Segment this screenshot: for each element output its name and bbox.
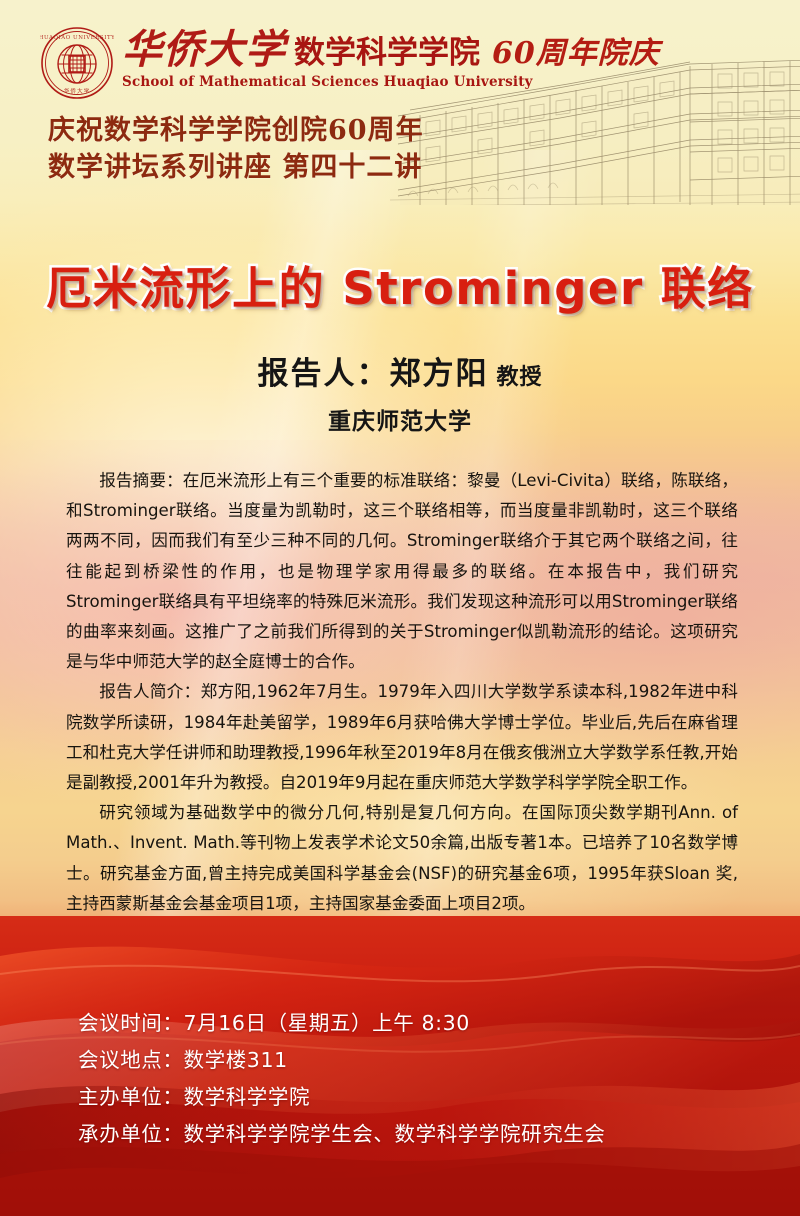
subheading-line-2: 数学讲坛系列讲座 第四十二讲 <box>48 149 424 186</box>
event-details: 会议时间：7月16日（星期五）上午 8:30 会议地点：数学楼311 主办单位：… <box>78 1005 606 1153</box>
subheading-line-1: 庆祝数学科学学院创院60周年 <box>48 112 424 149</box>
speaker-academic-title: 教授 <box>496 365 542 390</box>
svg-text:HUAQIAO UNIVERSITY: HUAQIAO UNIVERSITY <box>40 35 114 41</box>
school-english-name: School of Mathematical Sciences Huaqiao … <box>122 74 660 90</box>
department-name-cn: 数学科学学院 <box>294 38 480 69</box>
event-organizer: 主办单位：数学科学学院 <box>78 1079 606 1116</box>
huaqiao-university-seal-icon: HUAQIAO UNIVERSITY 华侨大学 <box>40 26 114 100</box>
research-paragraph: 研究领域为基础数学中的微分几何,特别是复几何方向。在国际顶尖数学期刊Ann. o… <box>66 798 738 919</box>
event-time: 会议时间：7月16日（星期五）上午 8:30 <box>78 1005 606 1042</box>
speaker-label: 报告人： <box>257 356 389 392</box>
speaker-block: 报告人：郑方阳教授 重庆师范大学 <box>0 355 800 436</box>
university-branding: HUAQIAO UNIVERSITY 华侨大学 华侨大学 数学科学学院 60周年… <box>40 26 660 100</box>
event-co-organizer: 承办单位：数学科学学院学生会、数学科学学院研究生会 <box>78 1116 606 1153</box>
body-content: 报告摘要：在厄米流形上有三个重要的标准联络：黎曼（Levi-Civita）联络，… <box>66 466 738 919</box>
speaker-name-row: 报告人：郑方阳教授 <box>0 355 800 394</box>
speaker-affiliation: 重庆师范大学 <box>0 402 800 436</box>
lecture-title-text: 厄米流形上的 Strominger 联络 <box>46 262 754 315</box>
biography-paragraph: 报告人简介：郑方阳,1962年7月生。1979年入四川大学数学系读本科,1982… <box>66 677 738 798</box>
university-name-cn: 华侨大学 <box>122 30 286 70</box>
anniversary-label: 60周年院庆 <box>492 39 660 69</box>
lecture-title: 厄米流形上的 Strominger 联络 <box>0 252 800 317</box>
header-band: HUAQIAO UNIVERSITY 华侨大学 华侨大学 数学科学学院 60周年… <box>0 0 800 205</box>
university-name-block: 华侨大学 数学科学学院 60周年院庆 School of Mathematica… <box>122 26 660 90</box>
abstract-paragraph: 报告摘要：在厄米流形上有三个重要的标准联络：黎曼（Levi-Civita）联络，… <box>66 466 738 677</box>
event-location: 会议地点：数学楼311 <box>78 1042 606 1079</box>
poster-root: HUAQIAO UNIVERSITY 华侨大学 华侨大学 数学科学学院 60周年… <box>0 0 800 1216</box>
svg-text:华侨大学: 华侨大学 <box>64 87 90 95</box>
event-subheading: 庆祝数学科学学院创院60周年 数学讲坛系列讲座 第四十二讲 <box>48 112 424 187</box>
speaker-name: 郑方阳 <box>389 356 488 392</box>
